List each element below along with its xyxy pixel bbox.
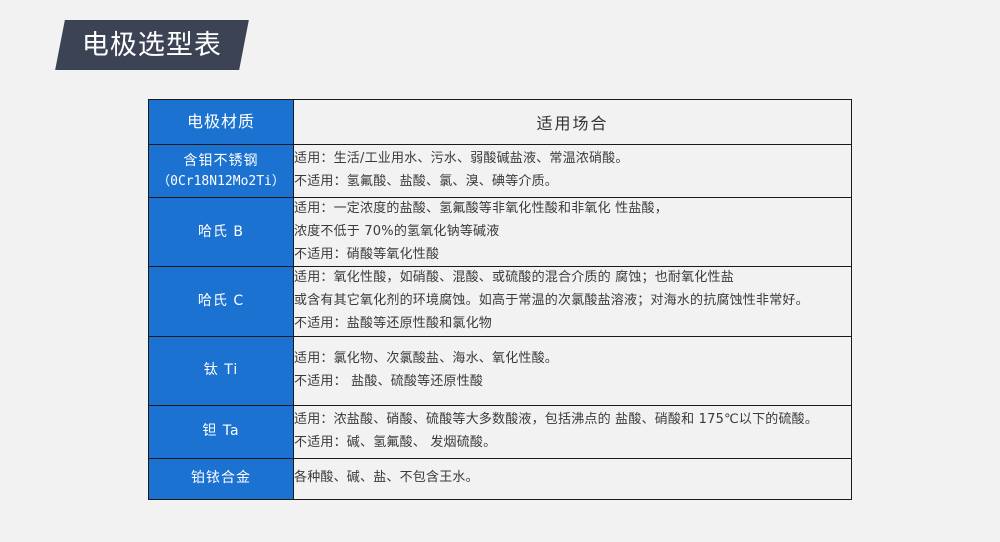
material-name: 哈氏 C [149, 291, 293, 312]
application-line: 不适用：盐酸等还原性酸和氯化物 [294, 313, 851, 336]
application-line: 适用：氧化性酸，如硝酸、混酸、或硫酸的混合介质的 腐蚀；也耐氧化性盐 [294, 267, 851, 290]
application-cell: 适用：氧化性酸，如硝酸、混酸、或硫酸的混合介质的 腐蚀；也耐氧化性盐或含有其它氧… [294, 267, 852, 336]
application-cell: 适用：氯化物、次氯酸盐、海水、氧化性酸。不适用： 盐酸、硫酸等还原性酸 [294, 336, 852, 405]
application-line: 各种酸、碱、盐、不包含王水。 [294, 467, 851, 490]
material-code: （0Cr18N12Mo2Ti） [149, 172, 293, 192]
material-name: 含钼不锈钢 [149, 151, 293, 172]
material-name: 钽 Ta [149, 421, 293, 442]
material-name: 哈氏 B [149, 222, 293, 243]
table-header-row: 电极材质 适用场合 [149, 100, 852, 145]
application-line: 适用：浓盐酸、硝酸、硫酸等大多数酸液，包括沸点的 盐酸、硝酸和 175℃以下的硫… [294, 409, 851, 432]
application-cell: 适用：生活/工业用水、污水、弱酸碱盐液、常温浓硝酸。不适用：氢氟酸、盐酸、氯、溴… [294, 145, 852, 198]
application-cell: 各种酸、碱、盐、不包含王水。 [294, 458, 852, 499]
table-row: 含钼不锈钢（0Cr18N12Mo2Ti）适用：生活/工业用水、污水、弱酸碱盐液、… [149, 145, 852, 198]
table-body: 电极材质 适用场合 含钼不锈钢（0Cr18N12Mo2Ti）适用：生活/工业用水… [149, 100, 852, 500]
page-title-banner: 电极选型表 [55, 20, 249, 70]
material-cell: 哈氏 C [149, 267, 294, 336]
table-row: 铂铱合金各种酸、碱、盐、不包含王水。 [149, 458, 852, 499]
application-cell: 适用：浓盐酸、硝酸、硫酸等大多数酸液，包括沸点的 盐酸、硝酸和 175℃以下的硫… [294, 405, 852, 458]
material-cell: 铂铱合金 [149, 458, 294, 499]
application-line: 浓度不低于 70%的氢氧化钠等碱液 [294, 221, 851, 244]
application-line: 不适用：碱、氢氟酸、 发烟硫酸。 [294, 432, 851, 455]
material-cell: 含钼不锈钢（0Cr18N12Mo2Ti） [149, 145, 294, 198]
table-row: 钽 Ta适用：浓盐酸、硝酸、硫酸等大多数酸液，包括沸点的 盐酸、硝酸和 175℃… [149, 405, 852, 458]
material-cell: 钽 Ta [149, 405, 294, 458]
application-line: 或含有其它氧化剂的环境腐蚀。如高于常温的次氯酸盐溶液；对海水的抗腐蚀性非常好。 [294, 290, 851, 313]
column-header-material: 电极材质 [149, 100, 294, 145]
application-cell: 适用：一定浓度的盐酸、氢氟酸等非氧化性酸和非氧化 性盐酸，浓度不低于 70%的氢… [294, 198, 852, 267]
material-name: 铂铱合金 [149, 468, 293, 489]
application-line: 不适用：硝酸等氧化性酸 [294, 244, 851, 267]
application-line: 适用：生活/工业用水、污水、弱酸碱盐液、常温浓硝酸。 [294, 148, 851, 171]
application-line: 不适用： 盐酸、硫酸等还原性酸 [294, 371, 851, 394]
table-row: 哈氏 C适用：氧化性酸，如硝酸、混酸、或硫酸的混合介质的 腐蚀；也耐氧化性盐或含… [149, 267, 852, 336]
material-cell: 钛 Ti [149, 336, 294, 405]
material-name: 钛 Ti [149, 360, 293, 381]
material-cell: 哈氏 B [149, 198, 294, 267]
application-line: 适用：氯化物、次氯酸盐、海水、氧化性酸。 [294, 348, 851, 371]
page-title: 电极选型表 [82, 32, 222, 59]
column-header-material-label: 电极材质 [151, 110, 291, 134]
column-header-applicable: 适用场合 [294, 100, 852, 145]
application-line: 不适用：氢氟酸、盐酸、氯、溴、碘等介质。 [294, 171, 851, 194]
table-row: 钛 Ti适用：氯化物、次氯酸盐、海水、氧化性酸。不适用： 盐酸、硫酸等还原性酸 [149, 336, 852, 405]
electrode-selection-table: 电极材质 适用场合 含钼不锈钢（0Cr18N12Mo2Ti）适用：生活/工业用水… [148, 99, 852, 500]
table-row: 哈氏 B适用：一定浓度的盐酸、氢氟酸等非氧化性酸和非氧化 性盐酸，浓度不低于 7… [149, 198, 852, 267]
application-line: 适用：一定浓度的盐酸、氢氟酸等非氧化性酸和非氧化 性盐酸， [294, 198, 851, 221]
